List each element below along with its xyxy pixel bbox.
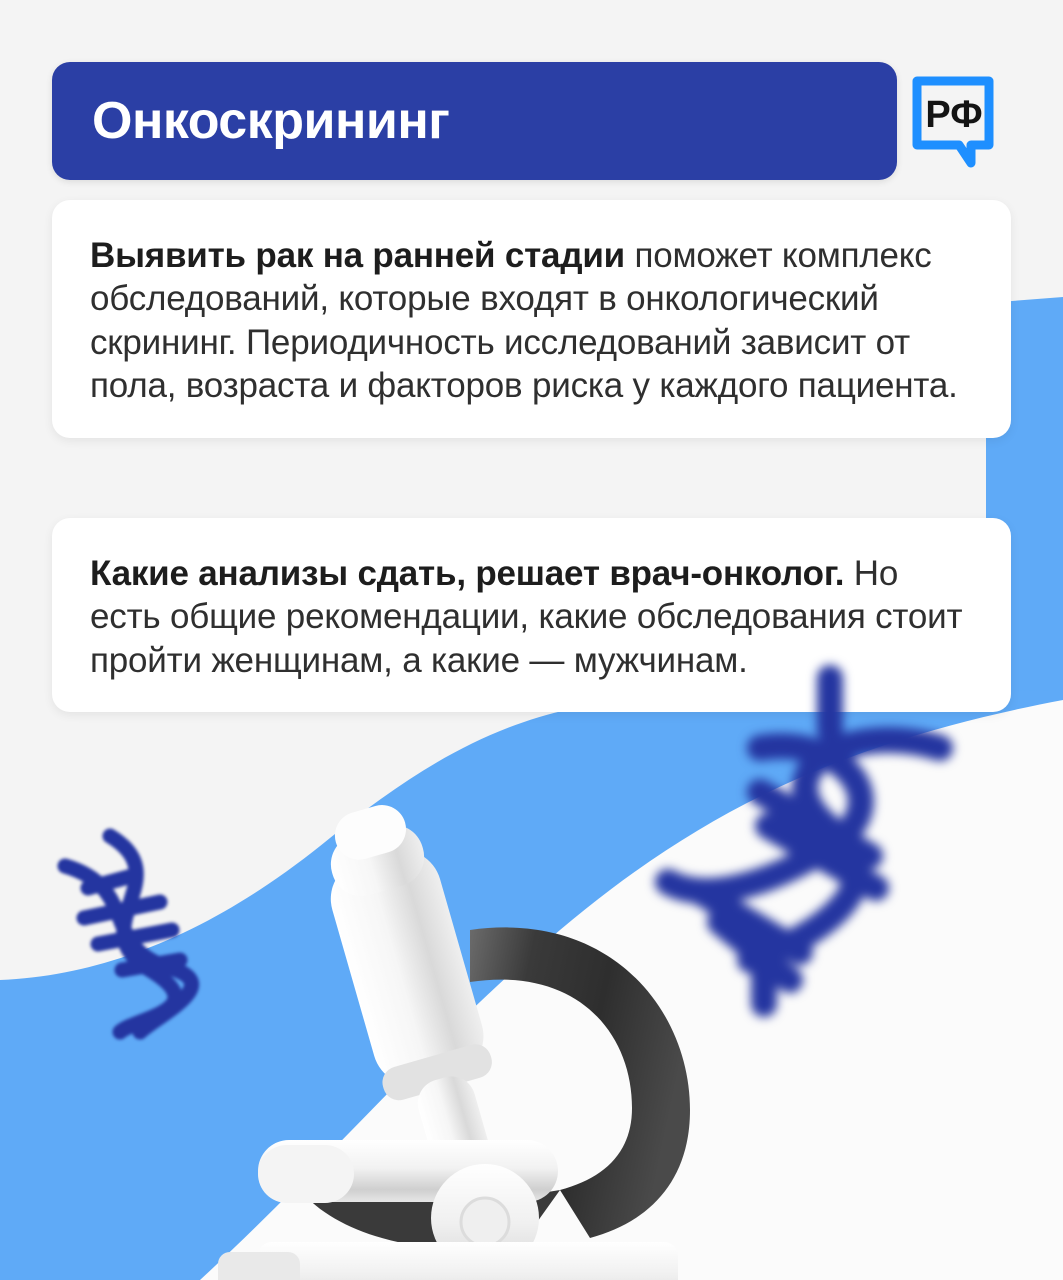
rf-logo-text: РФ — [925, 94, 982, 136]
microscope-base — [258, 1242, 678, 1280]
dna-helix-icon — [640, 660, 980, 1020]
dna-helix-icon — [40, 818, 260, 1048]
title-banner: Онкоскрининг — [52, 62, 897, 180]
rf-logo: РФ — [897, 62, 1011, 180]
card-1-paragraph: Выявить рак на ранней стадии поможет ком… — [90, 234, 973, 408]
card-1-bold: Выявить рак на ранней стадии — [90, 236, 625, 275]
speech-bubble-icon: РФ — [911, 71, 997, 171]
header: Онкоскрининг РФ — [52, 62, 1011, 180]
page-title: Онкоскрининг — [52, 95, 449, 147]
card-2-bold: Какие анализы сдать, решает врач-онколог… — [90, 554, 844, 593]
card-early-detection: Выявить рак на ранней стадии поможет ком… — [52, 200, 1011, 438]
infographic-page: Онкоскрининг РФ Выявить рак на ранней ст… — [0, 0, 1063, 1280]
